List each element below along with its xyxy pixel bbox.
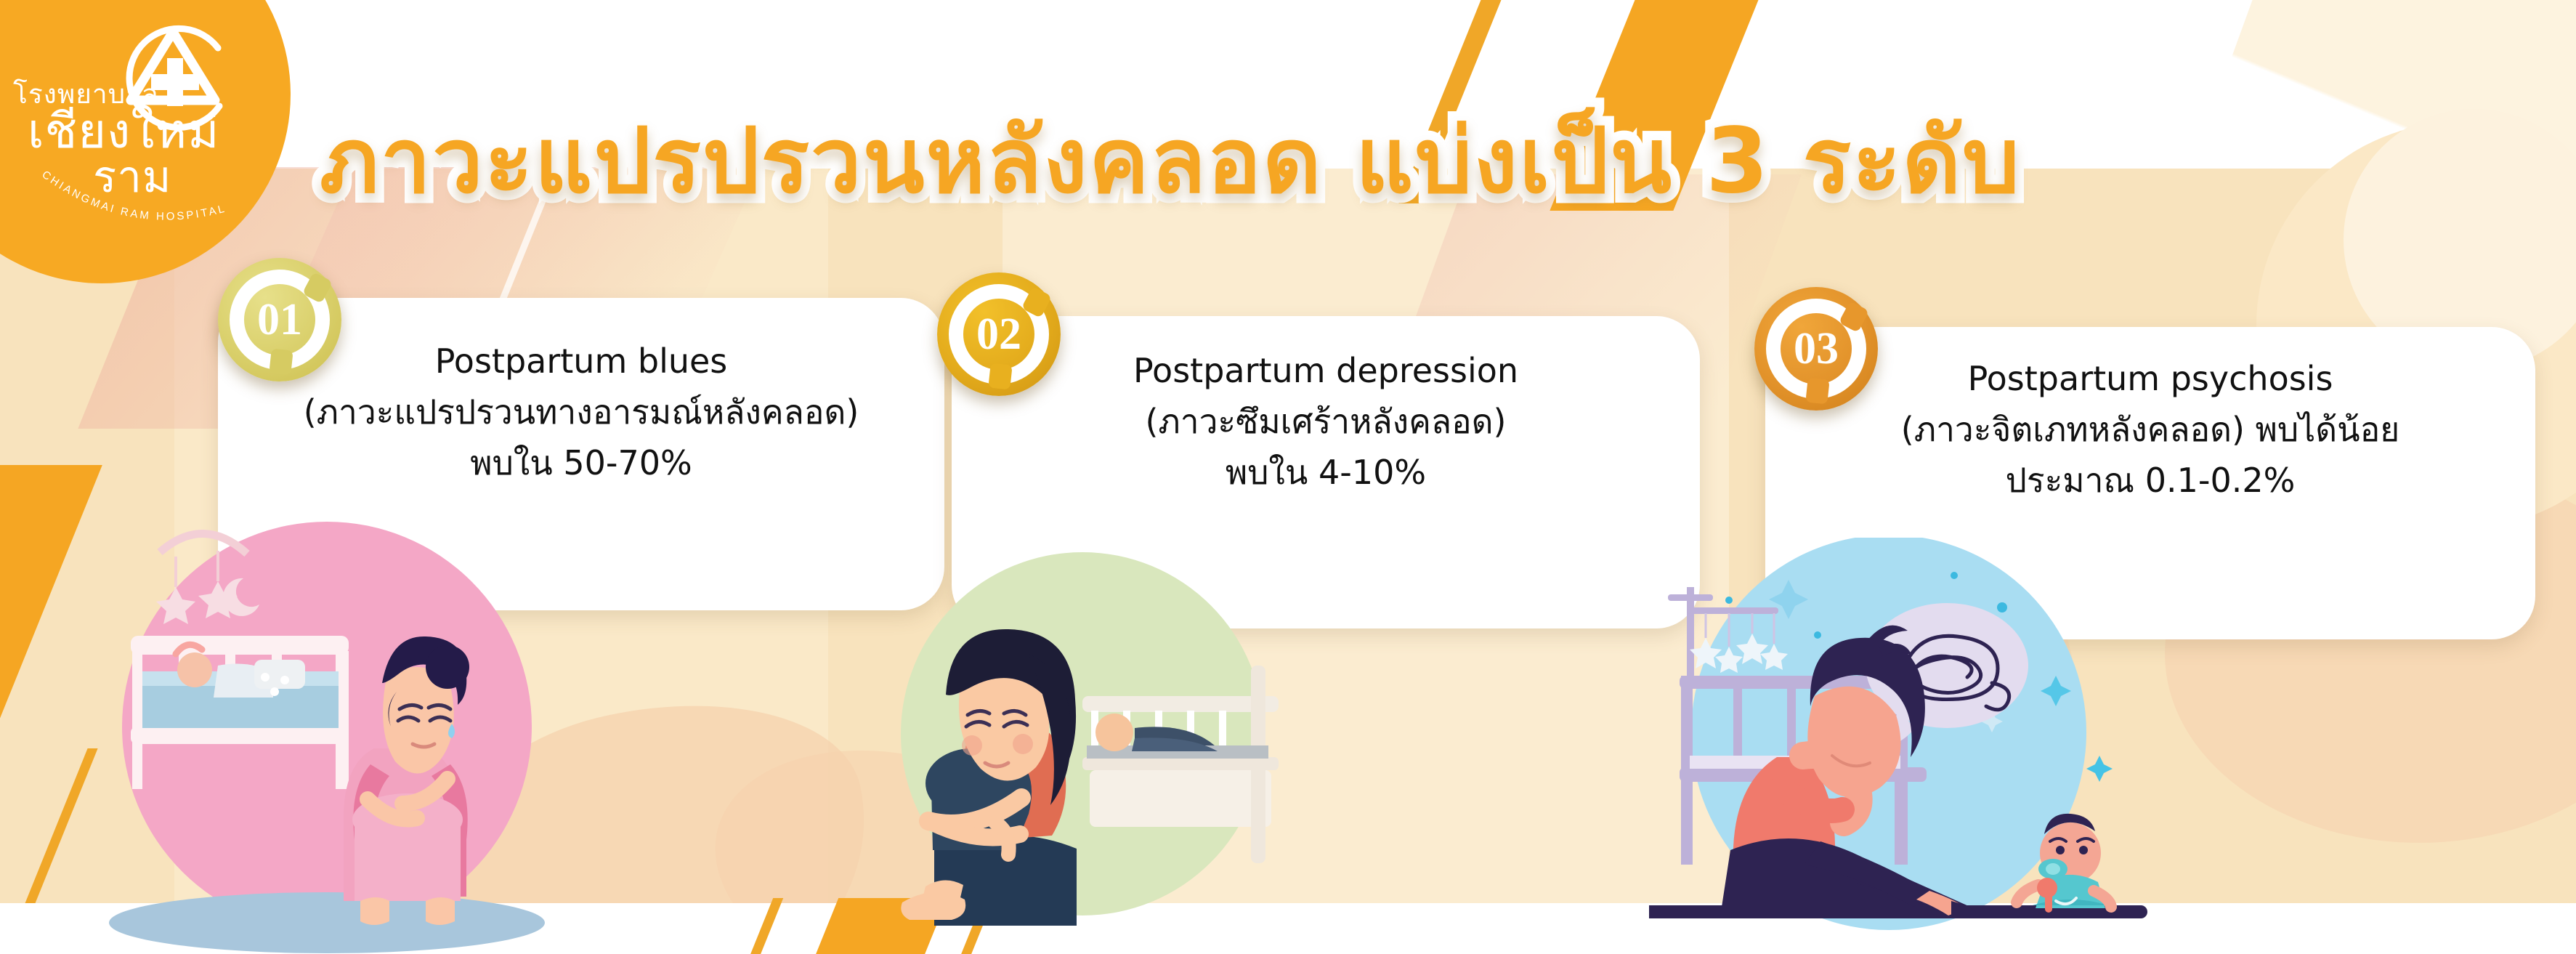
card-2-line-1: Postpartum depression bbox=[952, 345, 1700, 396]
card-2-line-3: พบใน 4-10% bbox=[952, 447, 1700, 498]
hospital-logo: โรงพยาบาล เชียงใหม่ ราม CHIANGMAI RAM HO… bbox=[0, 0, 291, 254]
page-title: ภาวะแปรปรวนหลังคลอด แบ่งเป็น 3 ระดับ bbox=[320, 89, 2470, 234]
badge-01: 01 bbox=[218, 258, 341, 381]
card-2-text: Postpartum depression (ภาวะซึมเศร้าหลังค… bbox=[952, 316, 1700, 498]
mother-hugging-knees-beside-crib-illustration bbox=[850, 552, 1300, 954]
mother-crying-beside-crib-illustration bbox=[109, 509, 574, 954]
card-3-line-1: Postpartum psychosis bbox=[1765, 353, 2535, 404]
badge-03-number: 03 bbox=[1754, 287, 1878, 411]
card-3-line-2: (ภาวะจิตเภทหลังคลอด) พบได้น้อย bbox=[1765, 404, 2535, 455]
badge-02-number: 02 bbox=[937, 272, 1061, 396]
card-1-line-3: พบใน 50-70% bbox=[218, 437, 944, 488]
badge-03: 03 bbox=[1754, 287, 1878, 411]
card-3-line-3: ประมาณ 0.1-0.2% bbox=[1765, 455, 2535, 506]
infographic-canvas: โรงพยาบาล เชียงใหม่ ราม CHIANGMAI RAM HO… bbox=[0, 0, 2576, 954]
badge-01-number: 01 bbox=[218, 258, 341, 381]
card-3-text: Postpartum psychosis (ภาวะจิตเภทหลังคลอด… bbox=[1765, 327, 2535, 506]
card-1-line-2: (ภาวะแปรปรวนทางอารมณ์หลังคลอด) bbox=[218, 387, 944, 437]
mother-covering-face-with-tangled-thought-bubble-and-baby-illustration bbox=[1649, 538, 2172, 954]
card-2-line-2: (ภาวะซึมเศร้าหลังคลอด) bbox=[952, 396, 1700, 447]
badge-02: 02 bbox=[937, 272, 1061, 396]
